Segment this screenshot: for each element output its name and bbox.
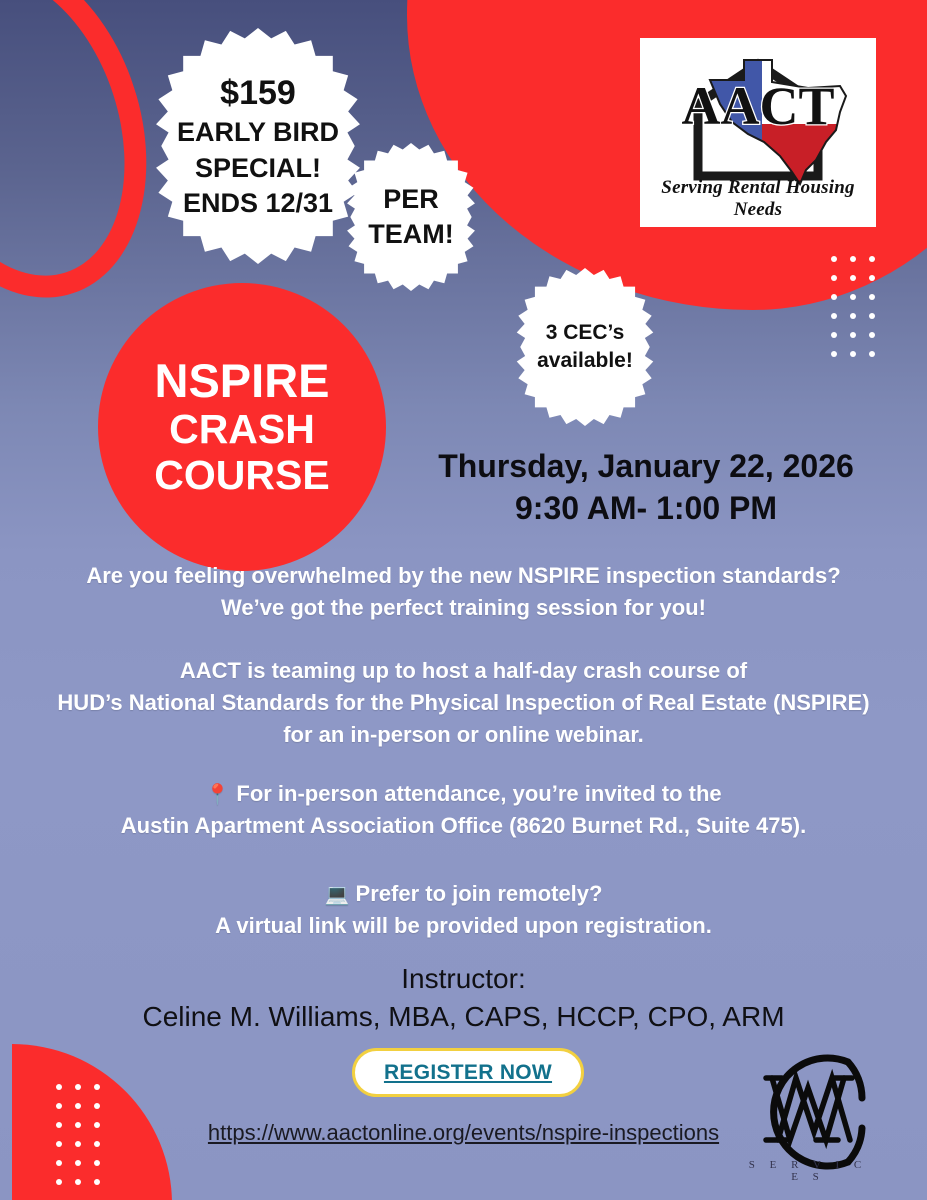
laptop-icon: 💻	[325, 884, 350, 906]
in-person-address: Austin Apartment Association Office (862…	[0, 810, 927, 842]
register-now-button[interactable]: REGISTER NOW	[352, 1048, 584, 1097]
early-bird-line3: ENDS 12/31	[183, 188, 333, 218]
in-person-line1: For in-person attendance, you’re invited…	[236, 781, 721, 806]
per-team-badge: PER TEAM!	[337, 143, 485, 291]
early-bird-badge: $159 EARLY BIRD SPECIAL! ENDS 12/31	[140, 28, 376, 264]
course-title-line2: CRASH	[169, 407, 315, 453]
course-title-line1: NSPIRE	[155, 355, 330, 408]
per-team-line1: PER	[383, 184, 439, 214]
in-person-paragraph: 📍 For in-person attendance, you’re invit…	[0, 778, 927, 842]
early-bird-line1: EARLY BIRD	[177, 117, 339, 147]
description-line3: for an in-person or online webinar.	[0, 719, 927, 751]
texas-state-icon: AACT	[640, 38, 876, 198]
early-bird-line2: SPECIAL!	[195, 153, 321, 183]
instructor-label: Instructor:	[0, 960, 927, 998]
description-line2: HUD’s National Standards for the Physica…	[0, 687, 927, 719]
course-title-circle: NSPIRE CRASH COURSE	[98, 283, 386, 571]
instructor-block: Instructor: Celine M. Williams, MBA, CAP…	[0, 960, 927, 1036]
aact-tagline: Serving Rental Housing Needs	[640, 177, 876, 221]
flyer-canvas: AACT Serving Rental Housing Needs $159 E…	[0, 0, 927, 1200]
remote-line1: Prefer to join remotely?	[356, 881, 603, 906]
event-time: 9:30 AM- 1:00 PM	[396, 488, 896, 530]
event-datetime: Thursday, January 22, 2026 9:30 AM- 1:00…	[396, 446, 896, 529]
aact-logo: AACT Serving Rental Housing Needs	[640, 38, 876, 227]
description-paragraph: AACT is teaming up to host a half-day cr…	[0, 655, 927, 751]
intro-line1: Are you feeling overwhelmed by the new N…	[0, 560, 927, 592]
location-pin-icon: 📍	[205, 784, 230, 806]
per-team-line2: TEAM!	[368, 219, 453, 249]
cec-line2: available!	[537, 349, 633, 372]
intro-line2: We’ve got the perfect training session f…	[0, 592, 927, 624]
course-title-line3: COURSE	[154, 453, 329, 499]
svg-text:AACT: AACT	[681, 76, 834, 136]
early-bird-price: $159	[177, 71, 339, 115]
remote-line2: A virtual link will be provided upon reg…	[0, 910, 927, 942]
description-line1: AACT is teaming up to host a half-day cr…	[0, 655, 927, 687]
intro-paragraph: Are you feeling overwhelmed by the new N…	[0, 560, 927, 624]
cec-badge: 3 CEC’s available!	[506, 268, 664, 426]
cec-line1: 3 CEC’s	[546, 321, 625, 344]
remote-paragraph: 💻 Prefer to join remotely? A virtual lin…	[0, 878, 927, 942]
wc-services-label: S E R V I C E S	[742, 1159, 874, 1183]
instructor-name: Celine M. Williams, MBA, CAPS, HCCP, CPO…	[0, 998, 927, 1036]
event-date: Thursday, January 22, 2026	[396, 446, 896, 488]
dot-grid-top-right-decoration	[831, 256, 875, 357]
